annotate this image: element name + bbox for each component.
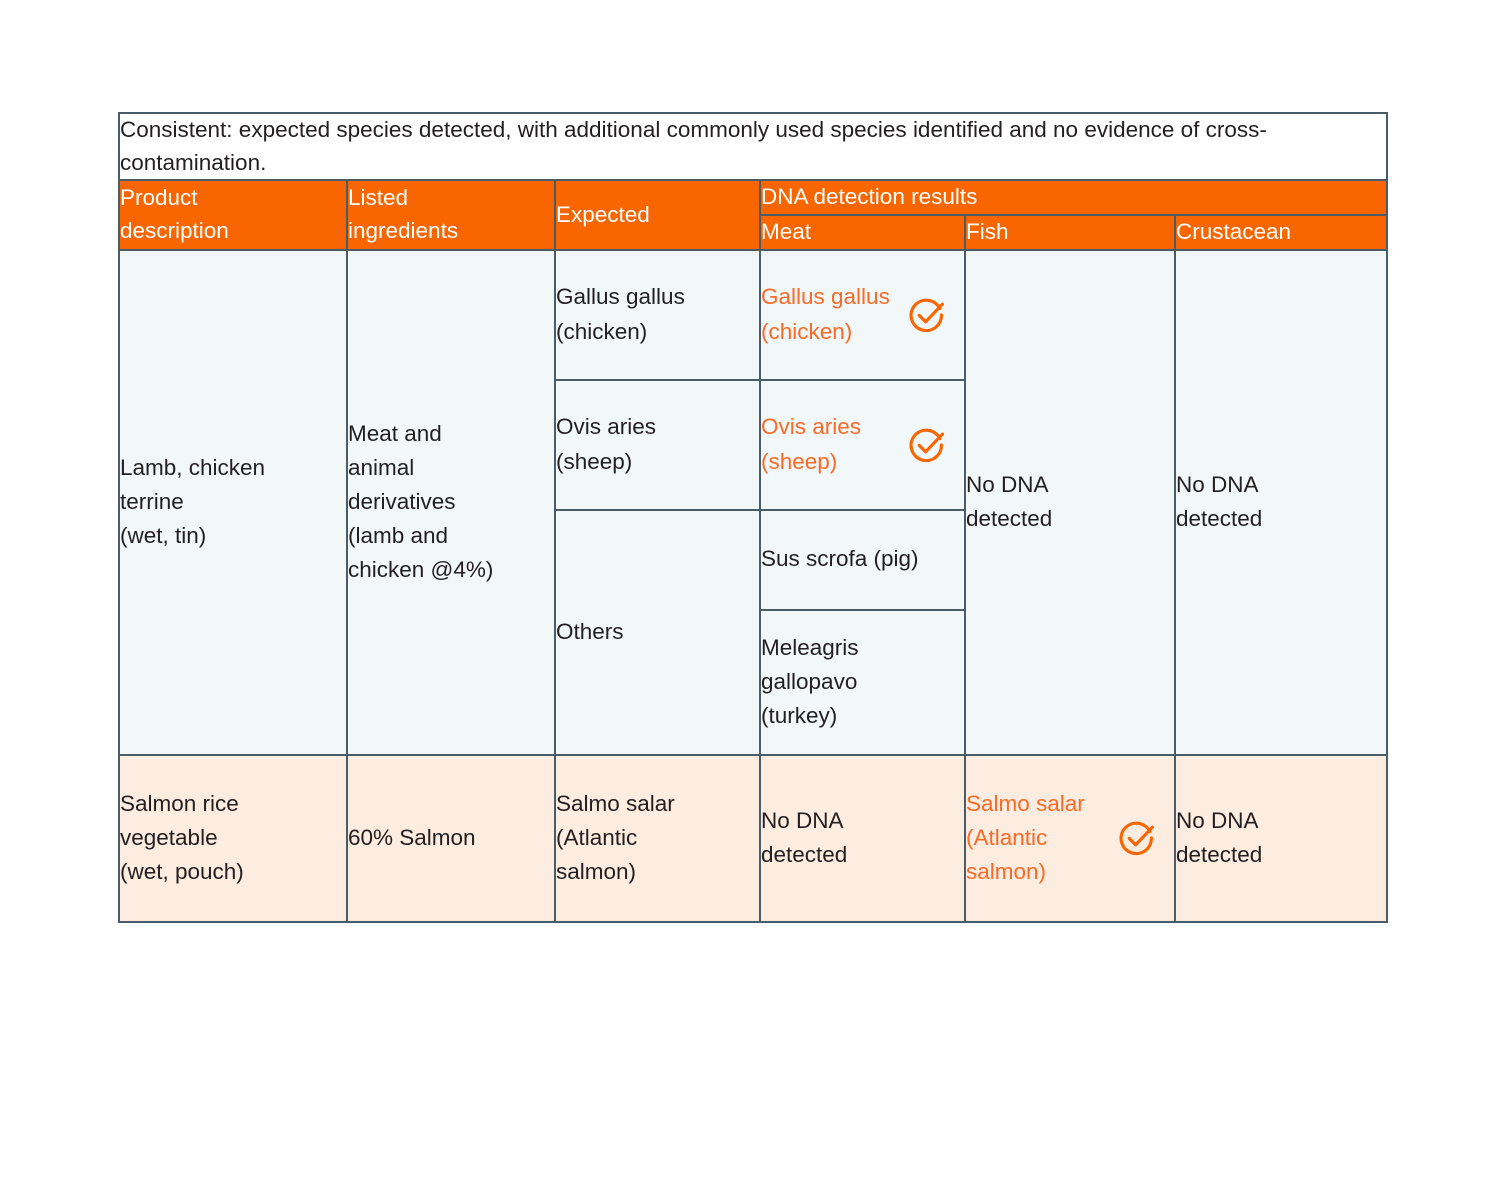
expected-species-line: (Atlantic [556, 825, 637, 850]
crustacean-result-line: No DNA [1176, 808, 1259, 833]
dna-detection-results-label: DNA detection results [761, 184, 977, 209]
cell-meat-result: Meleagris gallopavo (turkey) [760, 610, 965, 755]
cell-expected-species: Salmo salar (Atlantic salmon) [555, 755, 760, 922]
product-description-label-line2: description [120, 218, 229, 243]
listed-ingredients-line: (lamb and [348, 523, 448, 548]
page-root: Consistent: expected species detected, w… [0, 0, 1504, 1200]
product-description-line: (wet, pouch) [120, 859, 244, 884]
consistency-note: Consistent: expected species detected, w… [119, 113, 1387, 180]
fish-label: Fish [966, 219, 1009, 244]
fish-result-line: No DNA [966, 472, 1049, 497]
cell-meat-result: Ovis aries (sheep) [760, 380, 965, 510]
cell-meat-result: Sus scrofa (pig) [760, 510, 965, 610]
cell-meat-result: Gallus gallus (chicken) [760, 250, 965, 380]
cell-listed-ingredients: Meat and animal derivatives (lamb and ch… [347, 250, 555, 755]
check-circle-icon [908, 426, 946, 464]
listed-ingredients-line: chicken @4%) [348, 557, 493, 582]
meat-result-text: Ovis aries (sheep) [761, 410, 861, 478]
fish-result-line: salmon) [966, 859, 1046, 884]
crustacean-result-line: No DNA [1176, 472, 1259, 497]
product-description-line: terrine [120, 489, 184, 514]
fish-result-text: Salmo salar (Atlantic salmon) [966, 787, 1085, 890]
listed-ingredients-line: 60% Salmon [348, 825, 476, 850]
listed-ingredients-label-line2: ingredients [348, 218, 458, 243]
meat-result-line: (chicken) [761, 319, 852, 344]
dna-results-table: Consistent: expected species detected, w… [118, 112, 1388, 923]
expected-species-line: Ovis aries [556, 414, 656, 439]
crustacean-result-line: detected [1176, 506, 1262, 531]
product-description-label-line1: Product [120, 185, 198, 210]
table-header-row-primary: Product description Listed ingredients E… [119, 180, 1387, 215]
meat-result-line: detected [761, 842, 847, 867]
meat-result-line: Ovis aries [761, 414, 861, 439]
meat-result-line: Sus scrofa (pig) [761, 546, 919, 571]
cell-fish-result: Salmo salar (Atlantic salmon) [965, 755, 1175, 922]
meat-result-text: Gallus gallus (chicken) [761, 280, 890, 348]
meat-result-line: gallopavo [761, 669, 857, 694]
fish-result-line: detected [966, 506, 1052, 531]
column-header-expected: Expected [555, 180, 760, 249]
meat-result-line: Gallus gallus [761, 284, 890, 309]
check-circle-icon [908, 296, 946, 334]
fish-result-line: Salmo salar [966, 791, 1085, 816]
product-description-line: (wet, tin) [120, 523, 206, 548]
meat-result-line: (turkey) [761, 703, 837, 728]
table-note-row: Consistent: expected species detected, w… [119, 113, 1387, 180]
meat-result-line: Meleagris [761, 635, 859, 660]
product-description-line: Salmon rice [120, 791, 239, 816]
listed-ingredients-line: Meat and [348, 421, 442, 446]
check-circle-icon [1118, 819, 1156, 857]
column-header-listed-ingredients: Listed ingredients [347, 180, 555, 249]
table-row: Salmon rice vegetable (wet, pouch) 60% S… [119, 755, 1387, 922]
listed-ingredients-line: derivatives [348, 489, 456, 514]
expected-species-line: (sheep) [556, 449, 632, 474]
cell-fish-result: No DNA detected [965, 250, 1175, 755]
meat-label: Meat [761, 219, 811, 244]
crustacean-label: Crustacean [1176, 219, 1291, 244]
cell-expected-species: Gallus gallus (chicken) [555, 250, 760, 380]
expected-species-line: Others [556, 619, 624, 644]
meat-result-line: No DNA [761, 808, 844, 833]
cell-expected-species: Ovis aries (sheep) [555, 380, 760, 510]
cell-product-description: Lamb, chicken terrine (wet, tin) [119, 250, 347, 755]
product-description-line: Lamb, chicken [120, 455, 265, 480]
expected-species-line: Salmo salar [556, 791, 675, 816]
expected-label: Expected [556, 202, 650, 227]
crustacean-result-line: detected [1176, 842, 1262, 867]
listed-ingredients-label-line1: Listed [348, 185, 408, 210]
fish-result-line: (Atlantic [966, 825, 1047, 850]
cell-expected-species: Others [555, 510, 760, 755]
cell-crustacean-result: No DNA detected [1175, 755, 1387, 922]
column-header-product-description: Product description [119, 180, 347, 249]
cell-crustacean-result: No DNA detected [1175, 250, 1387, 755]
cell-meat-result: No DNA detected [760, 755, 965, 922]
column-header-fish: Fish [965, 215, 1175, 250]
table-row: Lamb, chicken terrine (wet, tin) Meat an… [119, 250, 1387, 380]
listed-ingredients-line: animal [348, 455, 414, 480]
product-description-line: vegetable [120, 825, 218, 850]
cell-listed-ingredients: 60% Salmon [347, 755, 555, 922]
column-header-crustacean: Crustacean [1175, 215, 1387, 250]
expected-species-line: (chicken) [556, 319, 647, 344]
dna-results-table-container: Consistent: expected species detected, w… [118, 112, 1386, 923]
column-header-meat: Meat [760, 215, 965, 250]
meat-result-line: (sheep) [761, 449, 837, 474]
expected-species-line: Gallus gallus [556, 284, 685, 309]
cell-product-description: Salmon rice vegetable (wet, pouch) [119, 755, 347, 922]
column-header-dna-detection-results: DNA detection results [760, 180, 1387, 215]
expected-species-line: salmon) [556, 859, 636, 884]
